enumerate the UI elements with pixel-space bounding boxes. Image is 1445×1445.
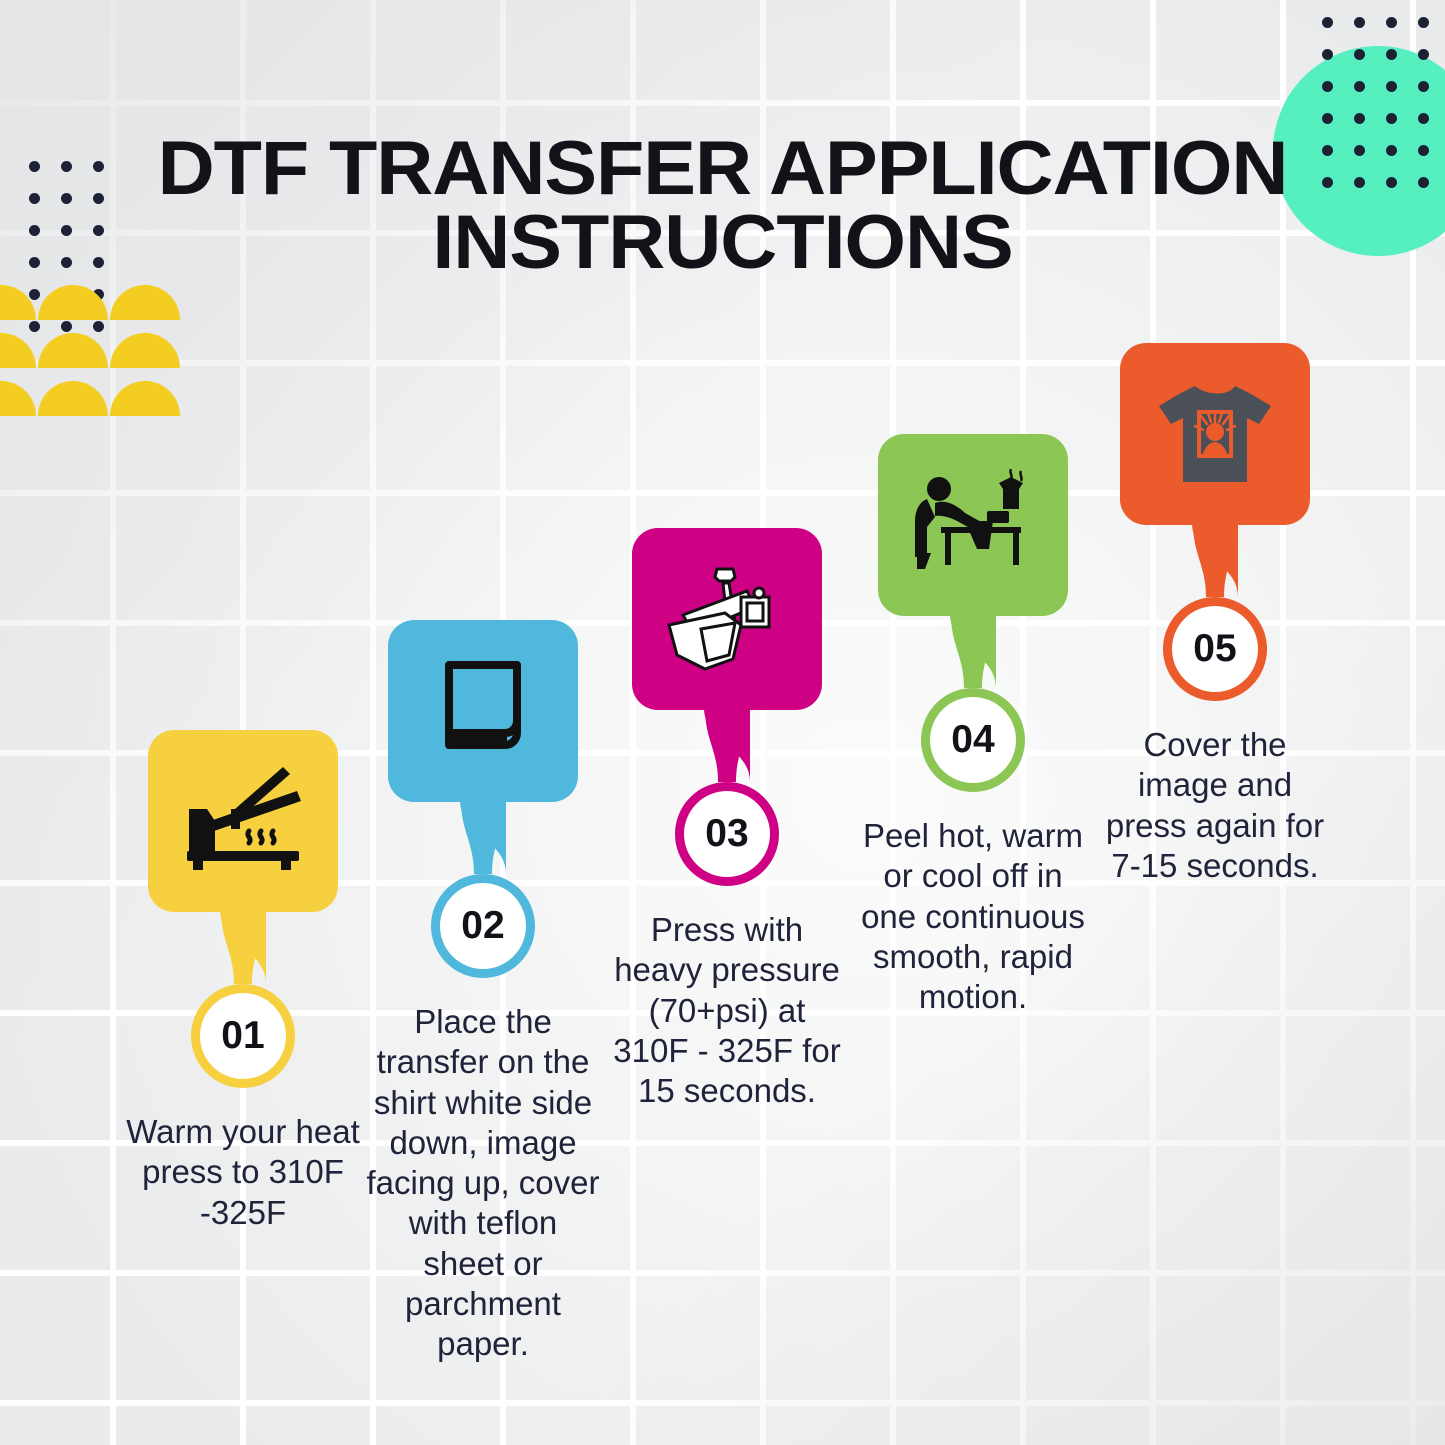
transfer-sheet-icon — [419, 655, 547, 767]
steps-container: 01 Warm your heat press to 310F -325F — [0, 0, 1445, 1445]
step-description: Warm your heat press to 310F -325F — [118, 1112, 368, 1233]
step-04: 04 Peel hot, warm or cool off in one con… — [848, 434, 1098, 1017]
step-number-bubble: 01 — [191, 984, 295, 1088]
step-icon-card — [1120, 343, 1310, 525]
step-connector — [1120, 525, 1310, 597]
step-number-bubble: 02 — [431, 874, 535, 978]
step-number-bubble-wrap: 02 — [388, 874, 578, 984]
step-03: 03 Press with heavy pressure (70+psi) at… — [602, 528, 852, 1111]
step-connector — [878, 616, 1068, 688]
heat-press-icon — [179, 765, 307, 877]
step-number: 04 — [951, 718, 994, 762]
step-number: 03 — [705, 812, 748, 856]
person-peeling-icon — [909, 469, 1037, 581]
step-number: 05 — [1193, 627, 1236, 671]
connector-shape — [1192, 523, 1238, 597]
step-number-bubble-wrap: 01 — [148, 984, 338, 1094]
step-02: 02 Place the transfer on the shirt white… — [358, 620, 608, 1364]
step-connector — [388, 802, 578, 874]
connector-shape — [220, 910, 266, 984]
heat-press-machine-icon — [663, 563, 791, 675]
printed-tshirt-icon — [1151, 378, 1279, 490]
step-description: Press with heavy pressure (70+psi) at 31… — [602, 910, 852, 1111]
step-number-bubble: 05 — [1163, 597, 1267, 701]
connector-shape — [704, 708, 750, 782]
step-description: Peel hot, warm or cool off in one contin… — [848, 816, 1098, 1017]
step-number-bubble-wrap: 04 — [878, 688, 1068, 798]
step-description: Place the transfer on the shirt white si… — [358, 1002, 608, 1364]
step-number-bubble: 03 — [675, 782, 779, 886]
step-number: 02 — [461, 904, 504, 948]
step-connector — [632, 710, 822, 782]
step-number: 01 — [221, 1014, 264, 1058]
connector-shape — [460, 800, 506, 874]
step-01: 01 Warm your heat press to 310F -325F — [118, 730, 368, 1233]
step-connector — [148, 912, 338, 984]
step-number-bubble-wrap: 03 — [632, 782, 822, 892]
step-description: Cover the image and press again for 7-15… — [1090, 725, 1340, 886]
step-icon-card — [388, 620, 578, 802]
step-number-bubble-wrap: 05 — [1120, 597, 1310, 707]
step-icon-card — [148, 730, 338, 912]
step-icon-card — [878, 434, 1068, 616]
step-05: 05 Cover the image and press again for 7… — [1090, 343, 1340, 886]
step-icon-card — [632, 528, 822, 710]
connector-shape — [950, 614, 996, 688]
step-number-bubble: 04 — [921, 688, 1025, 792]
